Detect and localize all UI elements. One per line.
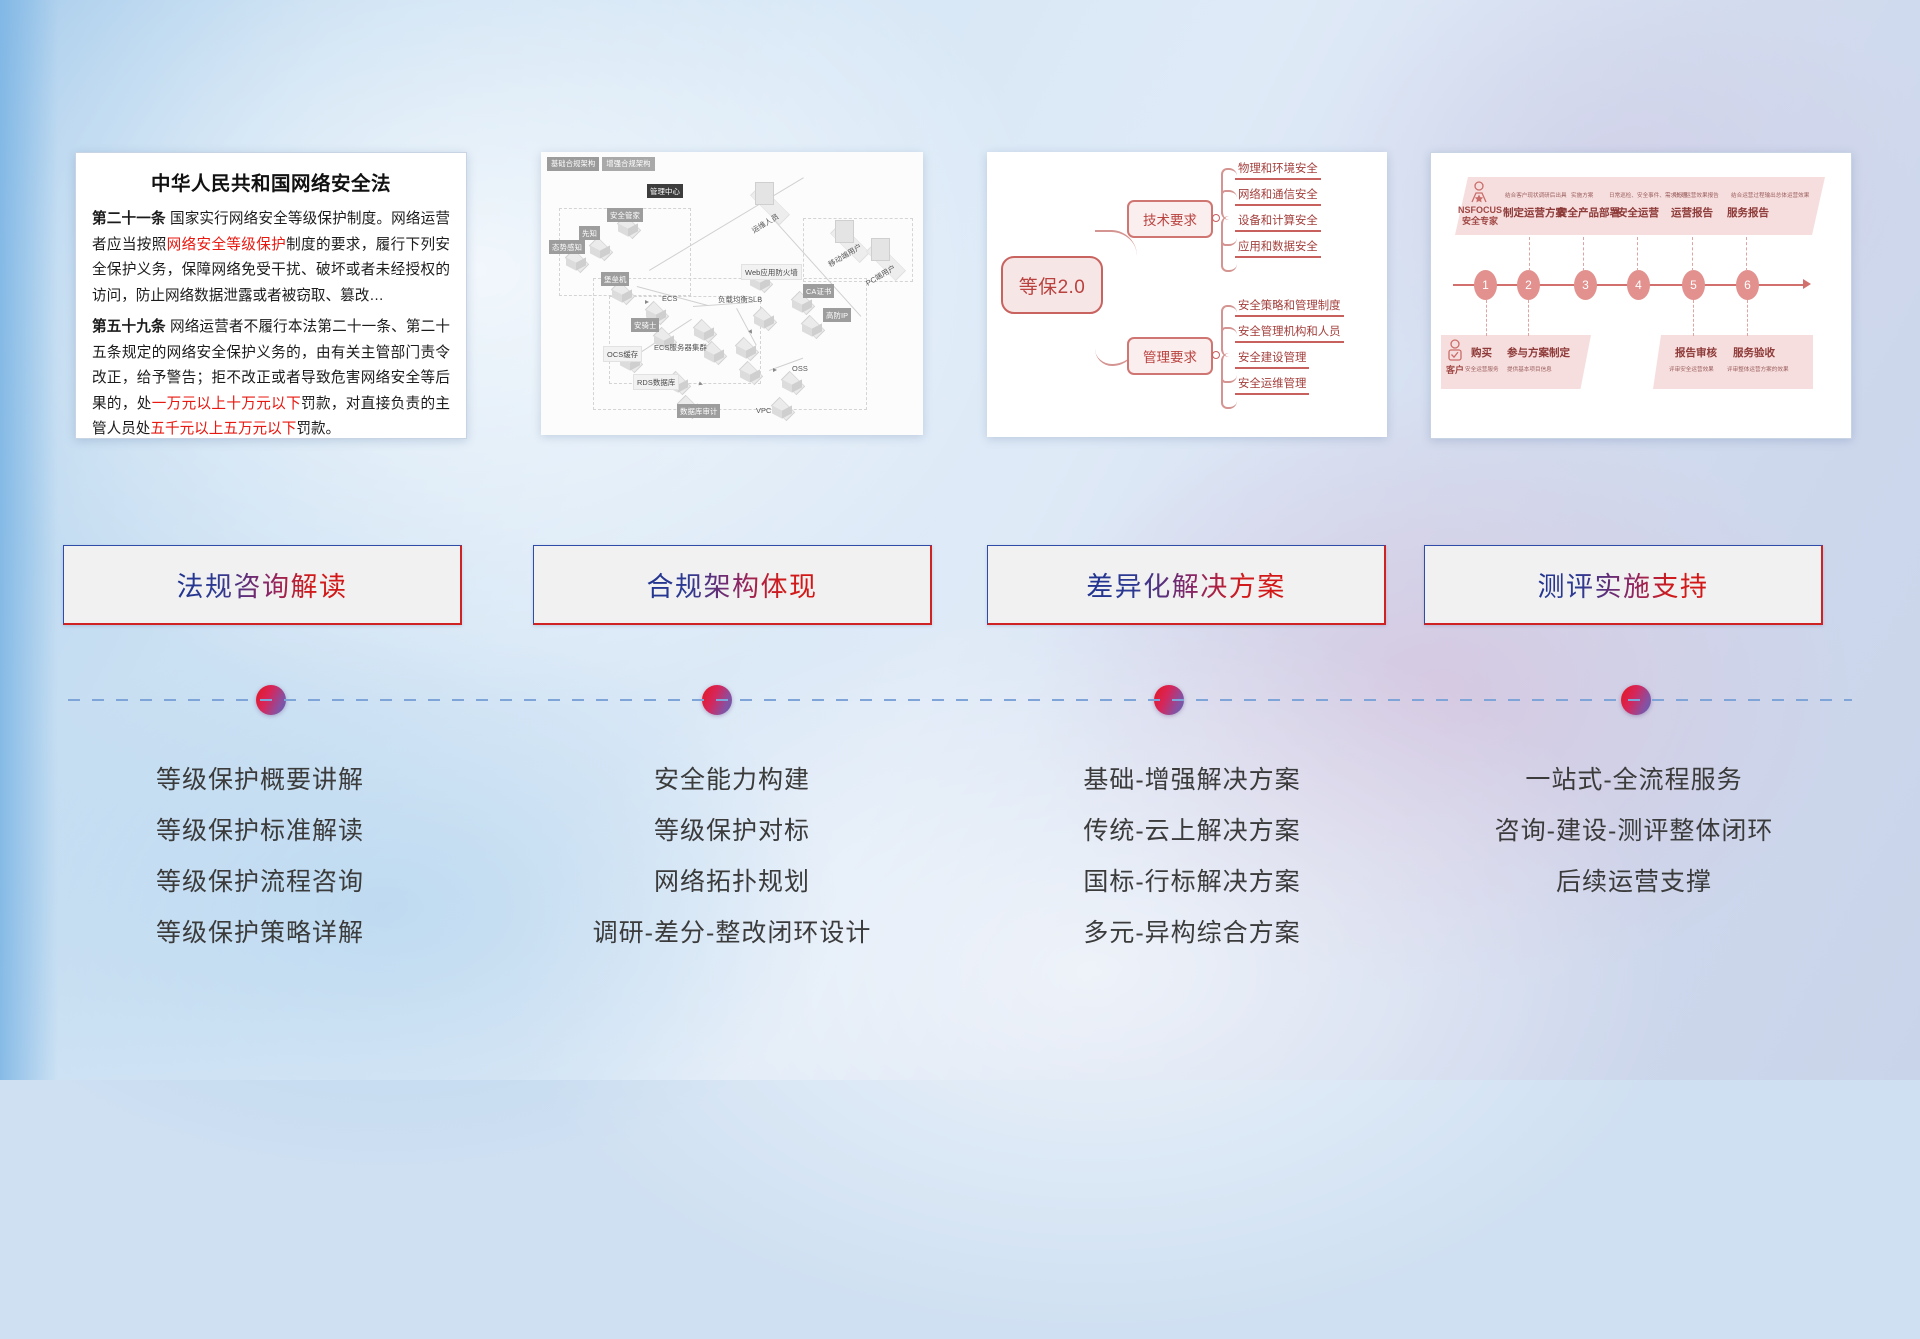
mindmap-connector-dot [1212, 214, 1220, 222]
law-text-run-highlight: 五千元以上五万元以下 [150, 421, 296, 437]
flow-arrow-icon [773, 368, 777, 372]
node-cube-icon [737, 364, 763, 386]
timeline-step-node[interactable]: 1 [1474, 270, 1497, 300]
card-law-document: 中华人民共和国网络安全法 第二十一条 国家实行网络安全等级保护制度。网络运营者应… [75, 152, 467, 439]
node-label-anqishi: 安骑士 [631, 318, 659, 332]
node-label-database-audit: 数据库审计 [677, 404, 720, 418]
list-item: 基础-增强解决方案 [987, 755, 1397, 806]
timeline-step-sub: 结合运营过程输出总体运营效果 [1731, 191, 1809, 199]
timeline-step-sub: 评审整体运营方案的效果 [1727, 365, 1789, 373]
list-item: 等级保护流程咨询 [55, 857, 465, 908]
timeline-connector [1693, 300, 1695, 336]
headline-differentiated-solutions[interactable]: 差异化解决方案 [987, 545, 1386, 625]
mindmap-leaf: 安全运维管理 [1235, 375, 1309, 395]
timeline-connector [1528, 300, 1530, 336]
node-label-oss: OSS [789, 362, 811, 374]
column-compliance-architecture: 基础合规架构 增强合规架构 [527, 0, 937, 1080]
column-legal-consulting: 中华人民共和国网络安全法 第二十一条 国家实行网络安全等级保护制度。网络运营者应… [55, 0, 465, 1080]
expert-person-icon [1469, 181, 1489, 203]
mindmap-leaf: 安全策略和管理制度 [1235, 297, 1344, 317]
law-title: 中华人民共和国网络安全法 [92, 167, 450, 196]
timeline-step-sub: 安全运营服务 [1465, 365, 1499, 373]
mindmap-branch-technical: 技术要求 [1127, 200, 1213, 238]
mindmap-leaf: 应用和数据安全 [1235, 238, 1321, 258]
node-label-ecs-cluster: ECS服务器集群 [651, 340, 710, 354]
mindmap-leaf: 设备和计算安全 [1235, 212, 1321, 232]
timeline-connector [1583, 237, 1585, 271]
provider-persona-role: 安全专家 [1451, 216, 1509, 227]
node-cube-icon [779, 374, 805, 396]
cloud-architecture-diagram: 基础合规架构 增强合规架构 [541, 152, 923, 435]
headline-label: 合规架构体现 [647, 565, 818, 604]
node-label-anti-ddos-ip: 高防IP [823, 308, 851, 322]
timeline-axis-arrow-icon [1803, 279, 1811, 289]
card-service-timeline: NSFOCUS 安全专家 客户 1 2 3 4 5 6 [1430, 152, 1852, 439]
timeline-step-node[interactable]: 3 [1574, 270, 1597, 300]
bullet-list-solutions: 基础-增强解决方案 传统-云上解决方案 国标-行标解决方案 多元-异构综合方案 [987, 755, 1397, 959]
node-label-waf: Web应用防火墙 [741, 264, 802, 280]
timeline-step-sub: 实施方案 [1571, 191, 1593, 199]
timeline-connector [1637, 237, 1639, 271]
mindmap-leaf: 网络和通信安全 [1235, 186, 1321, 206]
node-label-ca-certificate: CA证书 [803, 284, 834, 298]
timeline-step-title: 运营报告 [1671, 205, 1713, 220]
timeline-step-sub: 评审安全运营效果 [1669, 365, 1714, 373]
timeline-connector [1692, 237, 1694, 271]
list-item: 多元-异构综合方案 [987, 908, 1397, 959]
node-label-security-butler: 安全管家 [607, 208, 643, 222]
flow-arrow-icon [645, 300, 649, 304]
timeline-connector [1747, 300, 1749, 336]
bullet-list-legal: 等级保护概要讲解 等级保护标准解读 等级保护流程咨询 等级保护策略详解 [55, 755, 465, 959]
tab-enhanced-compliance[interactable]: 增强合规架构 [602, 157, 654, 171]
timeline-step-node[interactable]: 5 [1682, 270, 1705, 300]
node-label-vpc: VPC [753, 404, 775, 416]
headline-compliance-architecture[interactable]: 合规架构体现 [533, 545, 932, 625]
process-timeline-rail [68, 699, 1852, 701]
timeline-step-title: 参与方案制定 [1507, 345, 1570, 360]
list-item: 安全能力构建 [527, 755, 937, 806]
service-timeline-diagram: NSFOCUS 安全专家 客户 1 2 3 4 5 6 [1431, 153, 1851, 438]
timeline-step-title: 服务验收 [1733, 345, 1775, 360]
mindmap-connector-dot [1212, 351, 1220, 359]
mindmap-leaf: 安全管理机构和人员 [1235, 323, 1344, 343]
node-label-xianzhi: 先知 [579, 226, 600, 240]
timeline-connector [1486, 300, 1488, 336]
node-cube-icon [751, 310, 777, 332]
column-assessment-support: NSFOCUS 安全专家 客户 1 2 3 4 5 6 [1424, 0, 1844, 1080]
list-item: 后续运营支撑 [1424, 857, 1844, 908]
timeline-step-node[interactable]: 2 [1517, 270, 1540, 300]
node-label-ops-staff: 运维人员 [746, 208, 784, 239]
user-screen-icon [871, 238, 890, 261]
list-item: 等级保护对标 [527, 806, 937, 857]
list-item: 传统-云上解决方案 [987, 806, 1397, 857]
customer-lane-band-right [1653, 335, 1813, 389]
customer-person-icon [1445, 339, 1465, 363]
node-label-ecs: ECS [659, 292, 681, 304]
law-paragraph-21: 第二十一条 国家实行网络安全等级保护制度。网络运营者应当按照网络安全等级保护制度… [92, 207, 450, 309]
column-differentiated-solutions: 等保2.0 技术要求 管理要求 物理和环境安全 网络和通信安全 设备和计算安全 … [987, 0, 1397, 1080]
timeline-step-sub: 结合客户现状调研后出具 [1505, 191, 1567, 199]
node-label-slb: 负载均衡SLB [715, 292, 765, 306]
node-label-bastion-host: 堡垒机 [601, 272, 629, 286]
mindmap-branch-management: 管理要求 [1127, 337, 1213, 375]
timeline-step-title: 报告审核 [1675, 345, 1717, 360]
node-cube-icon [563, 252, 589, 274]
node-cube-icon [609, 284, 635, 306]
user-screen-icon [755, 182, 774, 205]
timeline-connector [1746, 237, 1748, 271]
mindmap-root-node: 等保2.0 [1001, 256, 1103, 314]
timeline-step-title: 购买 [1471, 345, 1492, 360]
headline-label: 法规咨询解读 [177, 565, 348, 604]
timeline-step-node[interactable]: 4 [1627, 270, 1650, 300]
timeline-step-sub: 提供基本项目信息 [1507, 365, 1552, 373]
law-article-number: 第二十一条 [92, 211, 166, 227]
node-label-situational-awareness: 态势感知 [549, 240, 585, 254]
timeline-step-node[interactable]: 6 [1736, 270, 1759, 300]
user-screen-icon [835, 220, 854, 243]
mindmap-leaf: 安全建设管理 [1235, 349, 1309, 369]
node-label-ocs-cache: OCS缓存 [603, 346, 642, 362]
node-label-rds-database: RDS数据库 [633, 374, 679, 390]
provider-persona-name: NSFOCUS [1451, 205, 1509, 216]
timeline-step-title: 安全产品部署 [1557, 205, 1620, 220]
list-item: 等级保护策略详解 [55, 908, 465, 959]
timeline-connector [1529, 237, 1531, 271]
list-item: 网络拓扑规划 [527, 857, 937, 908]
law-document: 中华人民共和国网络安全法 第二十一条 国家实行网络安全等级保护制度。网络运营者应… [76, 153, 466, 438]
law-text-run: 罚款。 [296, 421, 340, 437]
law-text-run-highlight: 网络安全等级保护 [167, 237, 286, 253]
headline-label: 测评实施支持 [1538, 565, 1709, 604]
list-item: 等级保护标准解读 [55, 806, 465, 857]
headline-legal-consulting[interactable]: 法规咨询解读 [63, 545, 462, 625]
content-stage: 中华人民共和国网络安全法 第二十一条 国家实行网络安全等级保护制度。网络运营者应… [0, 0, 1920, 1080]
node-cube-icon [799, 318, 825, 340]
node-cube-icon [733, 340, 759, 362]
bullet-list-assessment: 一站式-全流程服务 咨询-建设-测评整体闭环 后续运营支撑 [1424, 755, 1844, 908]
list-item: 等级保护概要讲解 [55, 755, 465, 806]
mindmap-leaf: 物理和环境安全 [1235, 160, 1321, 180]
card-cloud-architecture: 基础合规架构 增强合规架构 [541, 152, 923, 435]
architecture-tabs: 基础合规架构 增强合规架构 [547, 157, 655, 171]
law-text-run-highlight: 一万元以上十万元以下 [152, 396, 301, 412]
timeline-step-title: 安全运营 [1617, 205, 1659, 220]
list-item: 咨询-建设-测评整体闭环 [1424, 806, 1844, 857]
list-item: 调研-差分-整改闭环设计 [527, 908, 937, 959]
timeline-step-title: 服务报告 [1727, 205, 1769, 220]
law-article-number: 第五十九条 [92, 319, 166, 335]
node-label-management-center: 管理中心 [647, 184, 683, 198]
bullet-list-architecture: 安全能力构建 等级保护对标 网络拓扑规划 调研-差分-整改闭环设计 [527, 755, 937, 959]
node-cube-icon [587, 240, 613, 262]
mindmap-curve [1095, 230, 1137, 288]
list-item: 一站式-全流程服务 [1424, 755, 1844, 806]
list-item: 国标-行标解决方案 [987, 857, 1397, 908]
tab-basic-compliance[interactable]: 基础合规架构 [547, 157, 599, 171]
timeline-step-sub: 针对运营效果报告 [1674, 191, 1719, 199]
mindmap-diagram: 等保2.0 技术要求 管理要求 物理和环境安全 网络和通信安全 设备和计算安全 … [987, 152, 1387, 437]
card-mindmap: 等保2.0 技术要求 管理要求 物理和环境安全 网络和通信安全 设备和计算安全 … [987, 152, 1387, 437]
headline-assessment-support[interactable]: 测评实施支持 [1424, 545, 1823, 625]
headline-label: 差异化解决方案 [1086, 565, 1286, 604]
law-paragraph-59: 第五十九条 网络运营者不履行本法第二十一条、第二十五条规定的网络安全保护义务的，… [92, 315, 450, 439]
